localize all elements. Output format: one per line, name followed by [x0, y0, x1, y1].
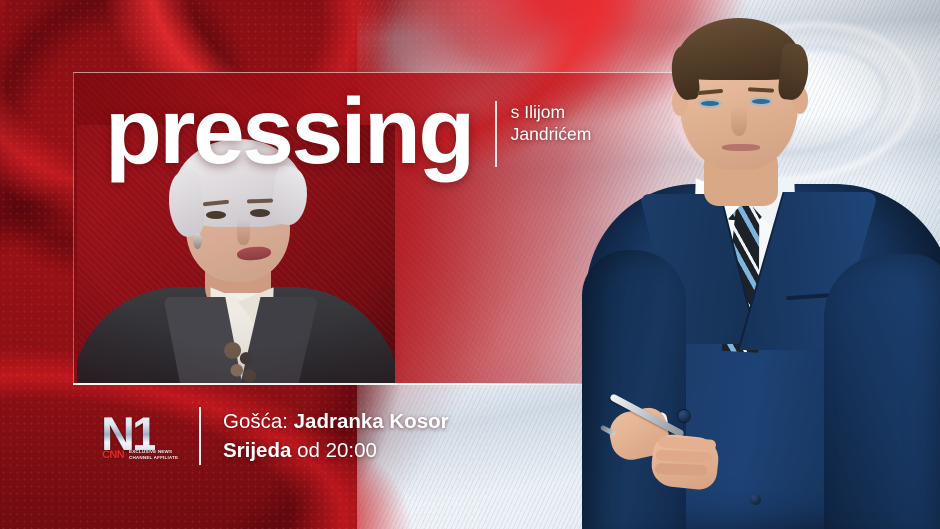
anchor-arm-left	[582, 250, 686, 529]
title-divider	[495, 101, 497, 167]
affiliate-text: EXCLUSIVE NEWS CHANNEL AFFILIATE	[129, 449, 178, 461]
host-line-2: Jandrićem	[511, 123, 592, 145]
info-bar-text: Gošća: Jadranka Kosor Srijeda od 20:00	[223, 407, 449, 465]
panel-bottom-rule	[73, 383, 625, 385]
anchor-eye-left	[699, 99, 721, 108]
schedule-prefix: od	[297, 439, 320, 462]
anchor-eye-right	[750, 97, 772, 106]
anchor-finger-three	[655, 463, 707, 476]
n1-logo: N1 CNN EXCLUSIVE NEWS CHANNEL AFFILIATE	[95, 402, 187, 470]
schedule-line: Srijeda od 20:00	[223, 436, 449, 465]
guest-eye-right	[250, 209, 270, 217]
anchor-nose	[731, 106, 747, 136]
anchor-arm-right	[824, 254, 940, 529]
guest-eye-left	[206, 211, 226, 219]
host-line-1: s Ilijom	[511, 101, 592, 123]
show-title: pressing	[105, 85, 473, 178]
info-bar: N1 CNN EXCLUSIVE NEWS CHANNEL AFFILIATE …	[95, 402, 449, 470]
anchor-jacket-button-lower	[750, 494, 761, 505]
guest-label: Gošća:	[223, 410, 288, 433]
info-bar-divider	[199, 407, 201, 465]
guest-name: Jadranka Kosor	[294, 410, 449, 433]
anchor-jacket-button	[678, 410, 690, 422]
show-title-block: pressing s Ilijom Jandrićem	[105, 85, 591, 178]
anchor-photo	[600, 18, 940, 529]
schedule-time: 20:00	[326, 439, 377, 462]
guest-line: Gošća: Jadranka Kosor	[223, 407, 449, 436]
schedule-day: Srijeda	[223, 439, 291, 462]
show-host-block: s Ilijom Jandrićem	[511, 101, 592, 146]
affiliate-line-2: CHANNEL AFFILIATE	[129, 455, 178, 461]
guest-nose	[237, 219, 250, 245]
broadcast-promo-graphic: pressing s Ilijom Jandrićem	[0, 0, 940, 529]
cnn-logo-text: CNN	[102, 449, 124, 461]
anchor-mouth	[722, 144, 760, 151]
guest-necklace	[220, 339, 262, 383]
guest-earring	[193, 233, 202, 249]
